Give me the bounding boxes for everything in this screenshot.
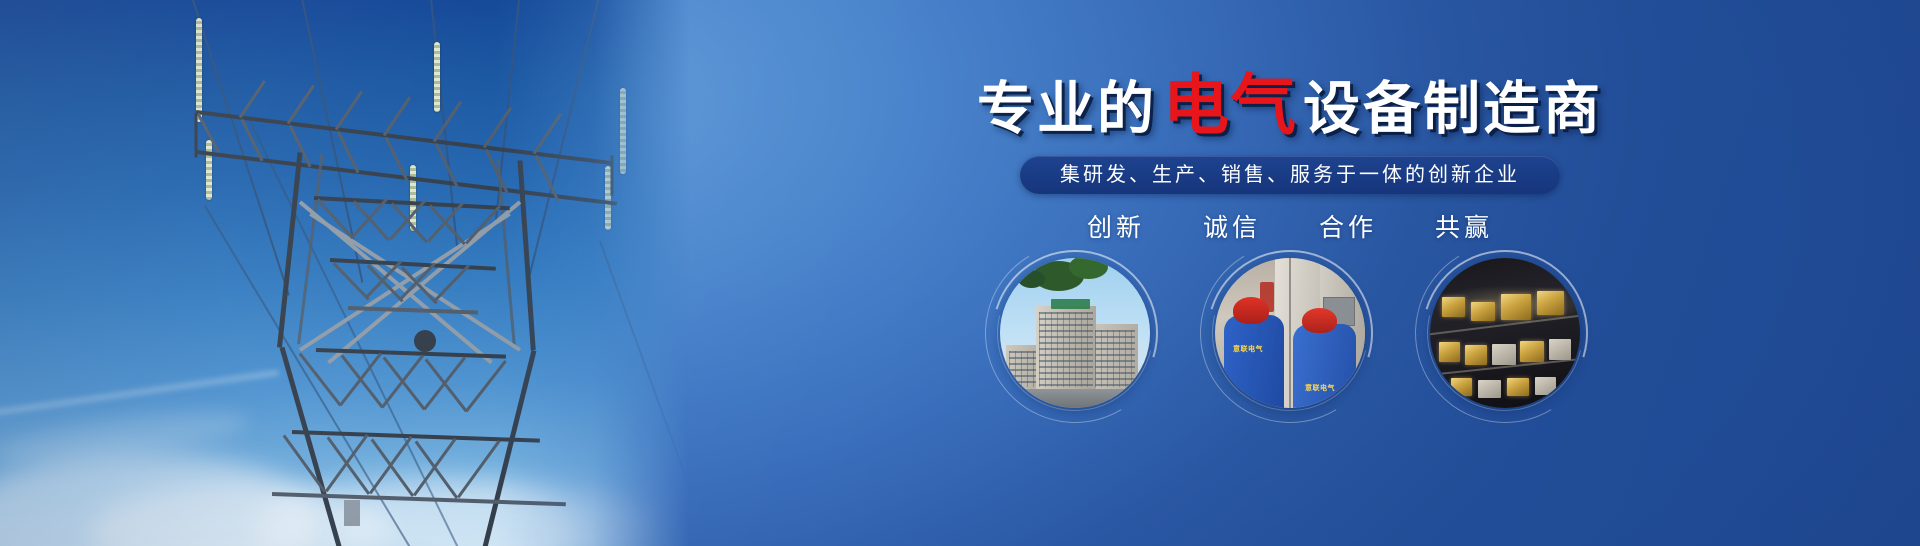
- circle-photo-1: [1000, 258, 1150, 408]
- banner-content: 专业的电气设备制造商 集研发、生产、销售、服务于一体的创新企业 创新 诚信 合作…: [660, 0, 1920, 546]
- core-values-row: 创新 诚信 合作 共赢: [660, 208, 1920, 244]
- office-building-photo: [1000, 258, 1150, 408]
- headline-part2: 设备制造商: [1303, 77, 1603, 141]
- headline-highlight: 电气: [1163, 68, 1297, 142]
- headline: 专业的电气设备制造商: [660, 72, 1920, 138]
- value-item: 合作: [1319, 208, 1377, 244]
- workers-electrical-cabinet-photo: 意联电气 意联电气: [1215, 258, 1365, 408]
- awards-display-wall-photo: [1430, 258, 1580, 408]
- value-item: 诚信: [1203, 208, 1261, 244]
- circle-photo-2: 意联电气 意联电气: [1215, 258, 1365, 408]
- circular-photo-row: 意联电气 意联电气: [660, 258, 1920, 408]
- headline-part1: 专业的: [977, 77, 1157, 141]
- circle-photo-3: [1430, 258, 1580, 408]
- value-item: 共赢: [1435, 208, 1493, 244]
- subtitle-pill: 集研发、生产、销售、服务于一体的创新企业: [1020, 156, 1560, 194]
- uniform-label: 意联电气: [1305, 383, 1335, 393]
- promotional-banner: 专业的电气设备制造商 集研发、生产、销售、服务于一体的创新企业 创新 诚信 合作…: [0, 0, 1920, 546]
- uniform-label: 意联电气: [1233, 344, 1263, 354]
- value-item: 创新: [1087, 208, 1145, 244]
